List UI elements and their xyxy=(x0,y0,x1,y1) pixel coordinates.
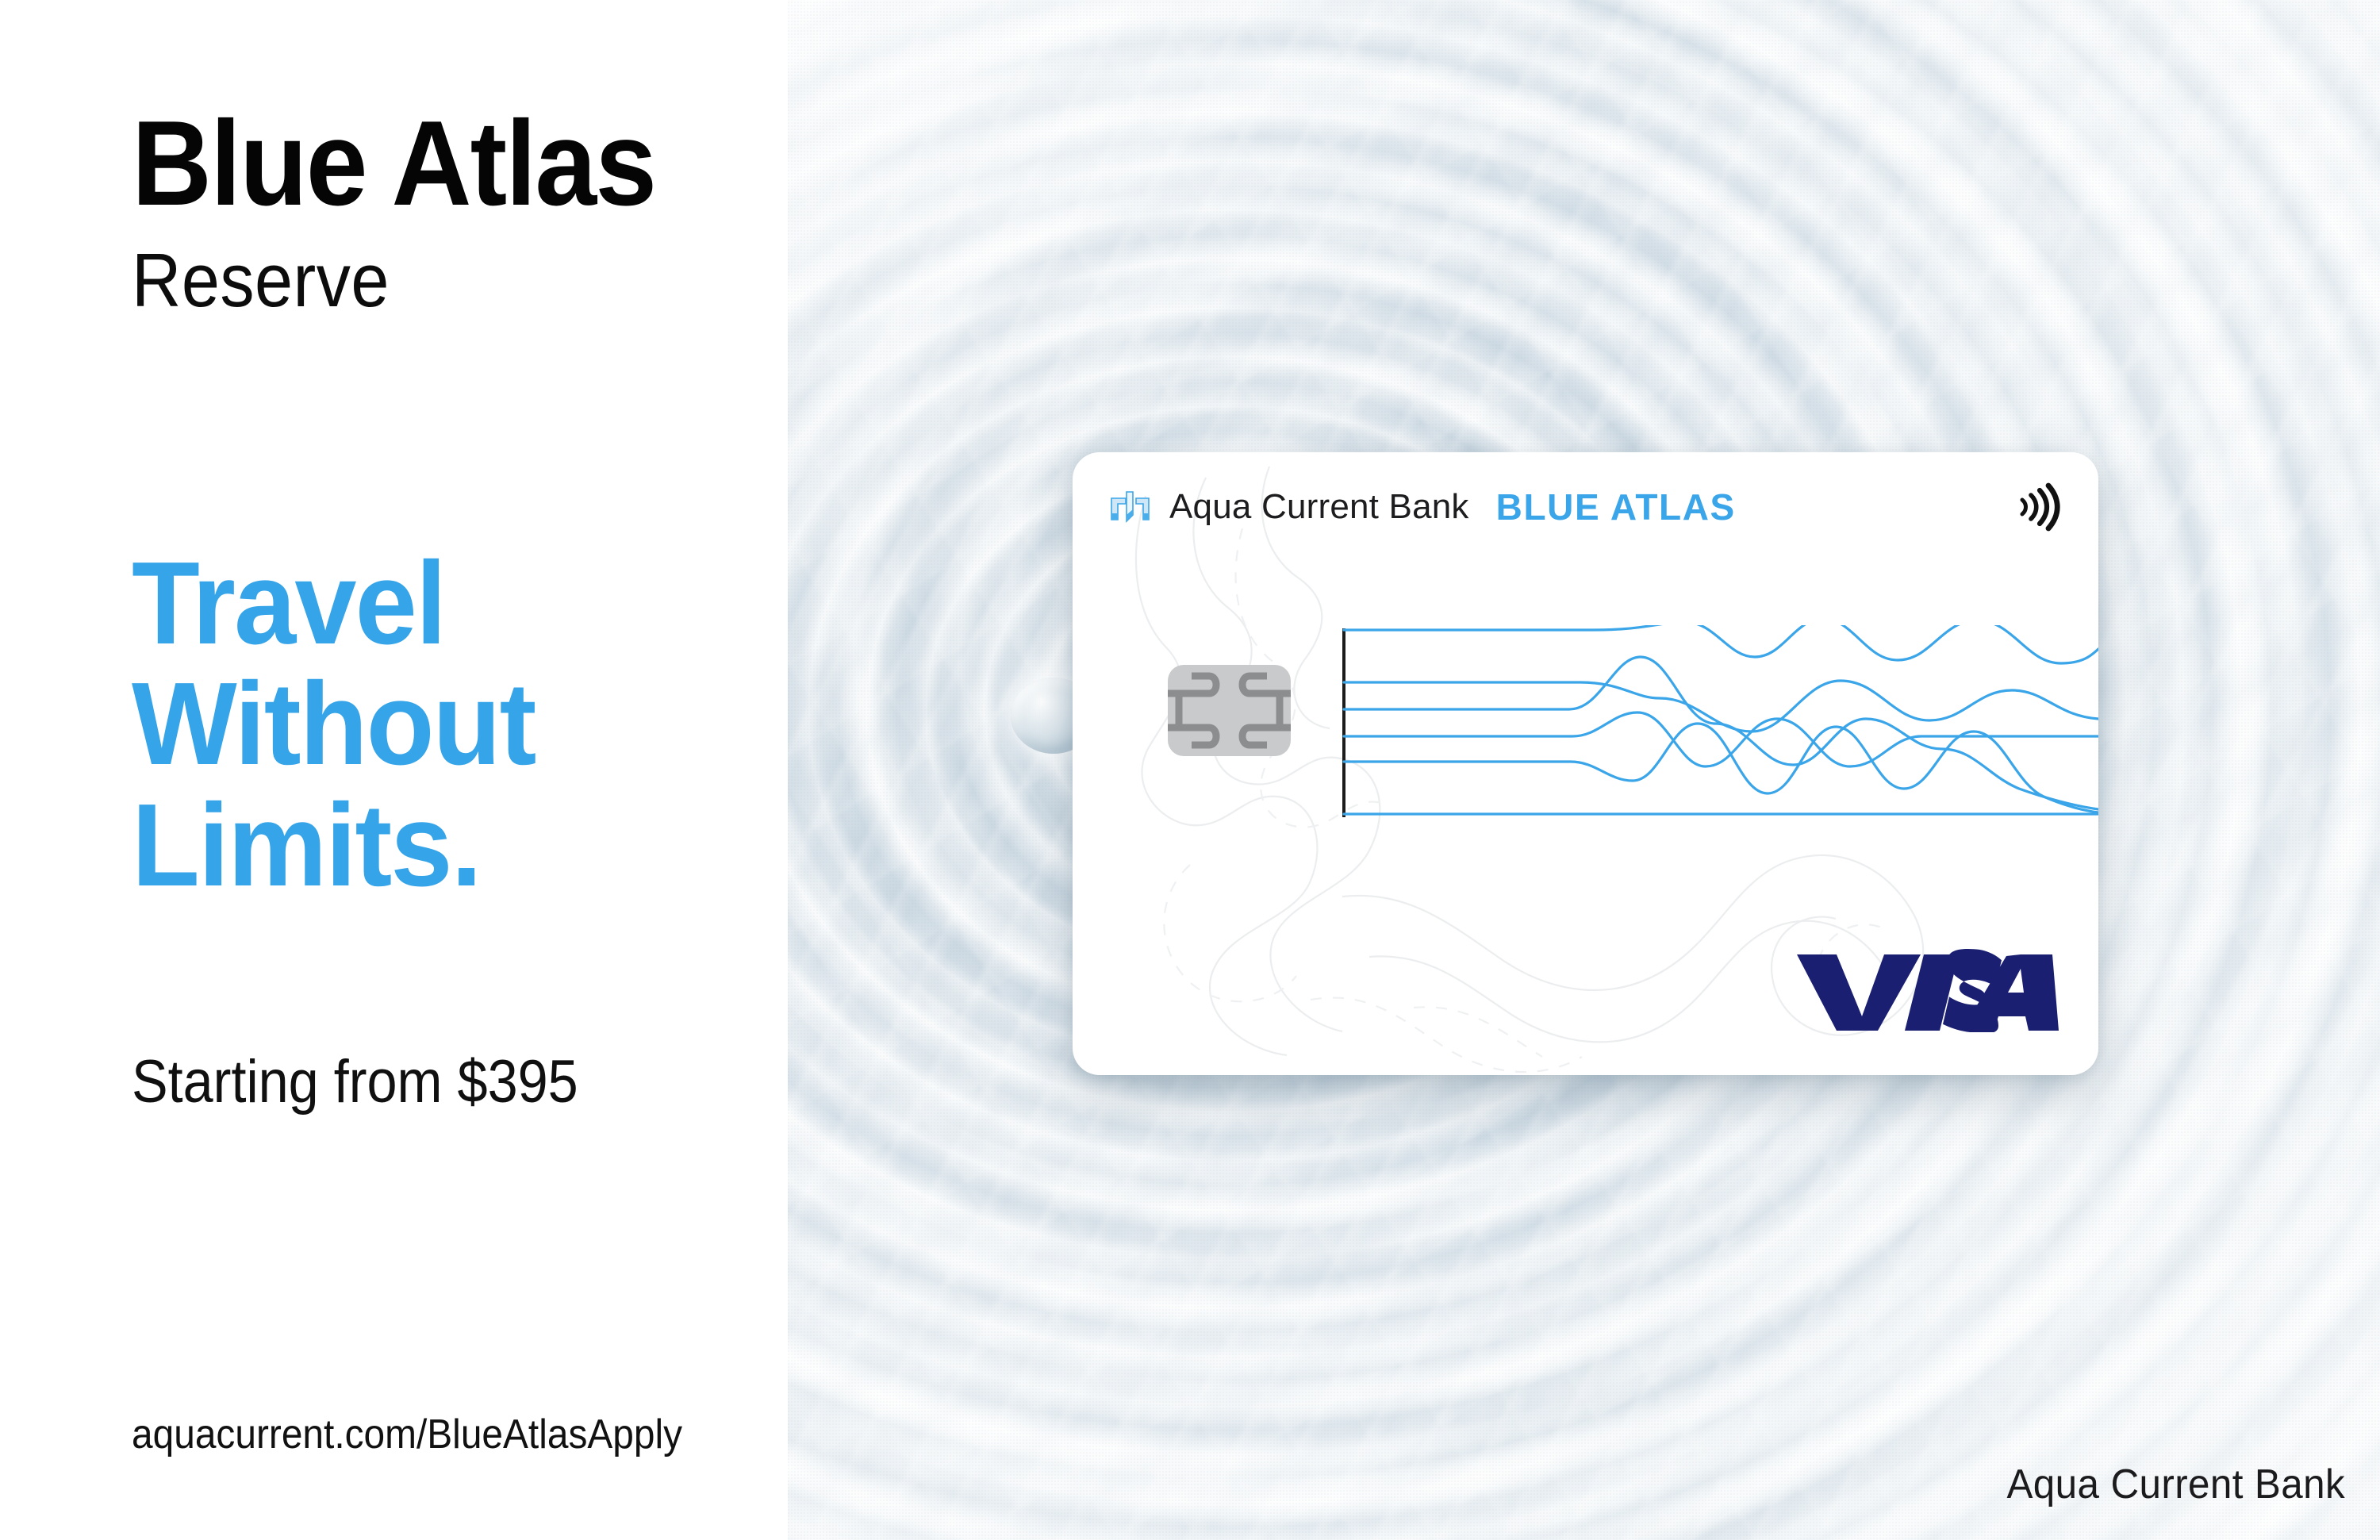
brand-block: Blue Atlas Reserve xyxy=(132,103,701,319)
blue-wave-lines-icon xyxy=(1342,625,2098,824)
headline-line-3: Limits. xyxy=(132,785,535,906)
visa-logo-icon xyxy=(1795,943,2065,1032)
headline-line-2: Without xyxy=(132,664,535,785)
advertisement-canvas: Aqua Current Bank BLUE ATLAS xyxy=(0,0,2380,1540)
left-text-panel: Blue Atlas Reserve Travel Without Limits… xyxy=(0,0,788,1540)
emv-chip-icon xyxy=(1168,665,1291,756)
card-bank-name: Aqua Current Bank xyxy=(1169,487,1469,527)
card-product-name: BLUE ATLAS xyxy=(1496,486,1736,528)
card-header: Aqua Current Bank BLUE ATLAS xyxy=(1107,478,2063,536)
contactless-payment-icon xyxy=(2005,478,2063,536)
headline: Travel Without Limits. xyxy=(132,543,535,906)
price-text: Starting from $395 xyxy=(132,1047,578,1116)
issuer-credit: Aqua Current Bank xyxy=(2006,1461,2345,1508)
credit-card: Aqua Current Bank BLUE ATLAS xyxy=(1073,452,2098,1075)
brand-tier-name: Reserve xyxy=(132,243,644,319)
aqua-current-logo-icon xyxy=(1107,483,1155,531)
brand-name: Blue Atlas xyxy=(132,103,655,224)
cta-url[interactable]: aquacurrent.com/BlueAtlasApply xyxy=(132,1411,682,1458)
headline-line-1: Travel xyxy=(132,543,535,664)
